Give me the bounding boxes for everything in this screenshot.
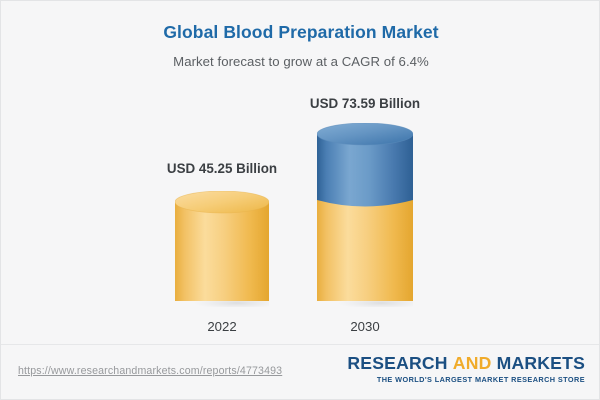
report-url-link[interactable]: https://www.researchandmarkets.com/repor… (18, 365, 282, 377)
logo-word-and: AND (453, 353, 492, 373)
bar-cylinder-2022 (175, 191, 269, 307)
data-label-2022: USD 45.25 Billion (132, 161, 312, 176)
footer: https://www.researchandmarkets.com/repor… (1, 344, 600, 399)
logo-wordmark: RESEARCH AND MARKETS (347, 354, 585, 372)
market-forecast-infographic: Global Blood Preparation Market Market f… (0, 0, 600, 400)
bar-cylinder-2030 (317, 123, 413, 307)
logo-word-research: RESEARCH (347, 353, 447, 373)
logo-word-markets: MARKETS (497, 353, 585, 373)
chart-plot-area: USD 45.25 Billion USD 73.59 Billion (1, 1, 600, 346)
research-and-markets-logo[interactable]: RESEARCH AND MARKETS THE WORLD'S LARGEST… (347, 354, 585, 384)
category-label-2022: 2022 (162, 319, 282, 334)
logo-tagline: THE WORLD'S LARGEST MARKET RESEARCH STOR… (347, 375, 585, 384)
data-label-2030: USD 73.59 Billion (275, 96, 455, 111)
category-label-2030: 2030 (305, 319, 425, 334)
